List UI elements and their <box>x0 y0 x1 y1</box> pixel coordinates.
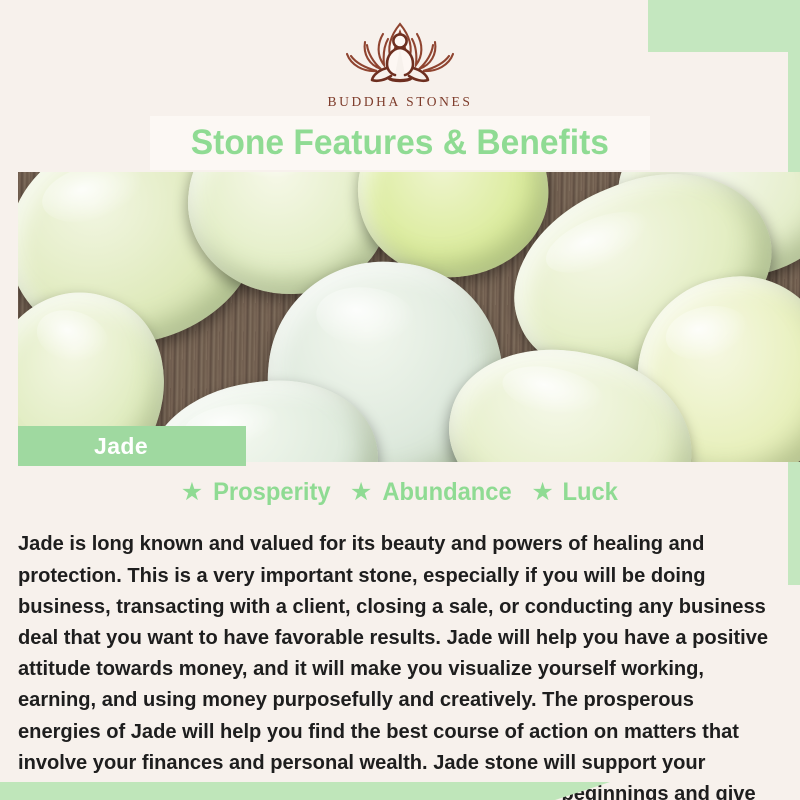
decoration-green-bottom-band <box>0 782 610 800</box>
star-icon: ★ <box>350 480 372 505</box>
benefit-item-luck: ★ Luck <box>531 478 619 507</box>
page-title: Stone Features & Benefits <box>191 123 609 163</box>
benefit-item-abundance: ★ Abundance <box>350 478 516 507</box>
benefit-label: Abundance <box>383 478 512 507</box>
brand-logo: BUDDHA STONES <box>0 18 800 110</box>
stone-name-badge: Jade <box>18 426 246 466</box>
benefit-label: Luck <box>562 478 617 507</box>
jade-stones-photo <box>18 172 800 462</box>
brand-name: BUDDHA STONES <box>0 94 800 110</box>
star-icon: ★ <box>531 480 553 505</box>
lotus-meditation-icon <box>325 18 475 90</box>
benefits-row: ★ Prosperity ★ Abundance ★ Luck <box>0 478 800 507</box>
star-icon: ★ <box>181 480 203 505</box>
infographic-card: BUDDHA STONES Stone Features & Benefits … <box>0 0 800 800</box>
stone-name-label: Jade <box>94 433 148 460</box>
section-title-band: Stone Features & Benefits <box>150 116 650 170</box>
stone-description: Jade is long known and valued for its be… <box>18 529 771 800</box>
benefit-item-prosperity: ★ Prosperity <box>181 478 334 507</box>
benefit-label: Prosperity <box>213 478 330 507</box>
